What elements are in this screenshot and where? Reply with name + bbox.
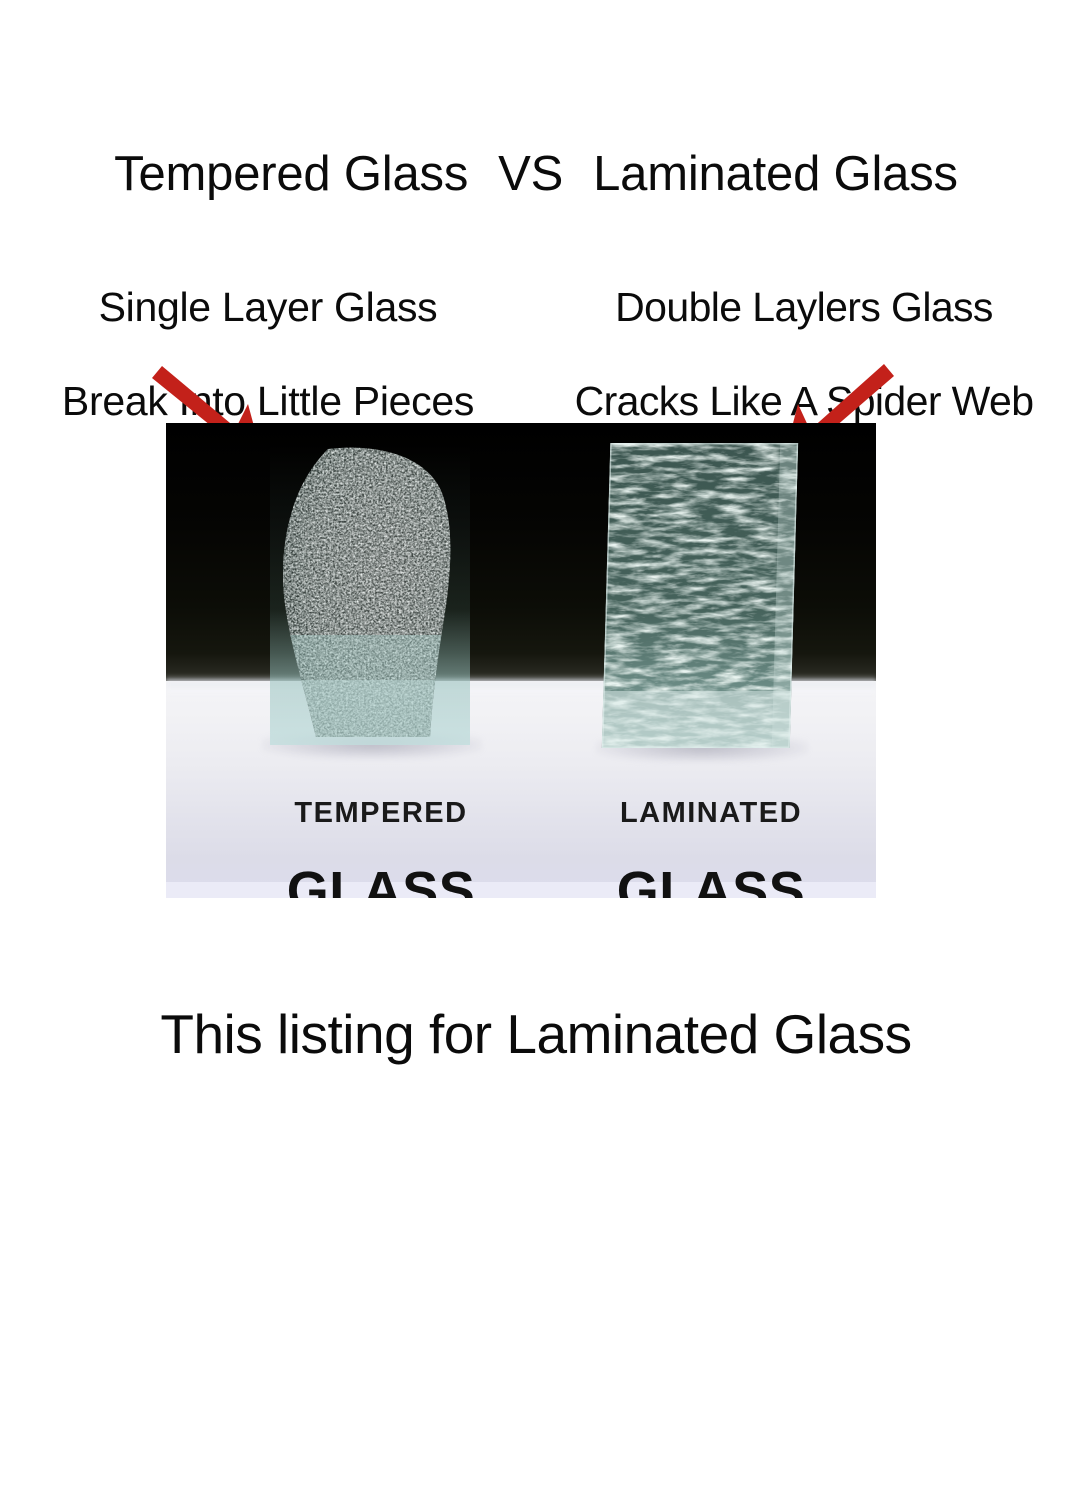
subcaption-left-line1: Single Layer Glass xyxy=(0,278,536,336)
poster-canvas: Tempered Glass VS Laminated Glass Single… xyxy=(0,0,1072,1500)
subcaption-left-column: Single Layer Glass Break Into Little Pie… xyxy=(0,242,536,362)
headline-tempered: Tempered Glass xyxy=(114,150,468,199)
subcaption-right-line1: Double Laylers Glass xyxy=(536,278,1072,336)
subcaption-row: Single Layer Glass Break Into Little Pie… xyxy=(0,242,1072,362)
comparison-photo: TEMPERED GLASS LAMINATED GLASS xyxy=(166,423,876,898)
subcaption-right-column: Double Laylers Glass Cracks Like A Spide… xyxy=(536,242,1072,362)
tempered-shard-pattern xyxy=(270,445,470,745)
photo-caption-tempered-small: TEMPERED xyxy=(216,799,546,828)
headline-row: Tempered Glass VS Laminated Glass xyxy=(0,150,1072,212)
tempered-glass-pane xyxy=(270,445,470,745)
photo-caption-tempered: TEMPERED GLASS xyxy=(216,767,546,898)
photo-caption-tempered-big: GLASS xyxy=(216,864,546,898)
headline-laminated: Laminated Glass xyxy=(593,150,958,199)
photo-caption-laminated-big: GLASS xyxy=(546,864,876,898)
listing-note: This listing for Laminated Glass xyxy=(0,1002,1072,1066)
laminated-glass-pane xyxy=(602,443,799,748)
photo-caption-laminated-small: LAMINATED xyxy=(546,799,876,828)
headline-vs: VS xyxy=(498,150,563,199)
photo-caption-laminated: LAMINATED GLASS xyxy=(546,767,876,898)
laminated-crack-pattern xyxy=(602,443,799,748)
